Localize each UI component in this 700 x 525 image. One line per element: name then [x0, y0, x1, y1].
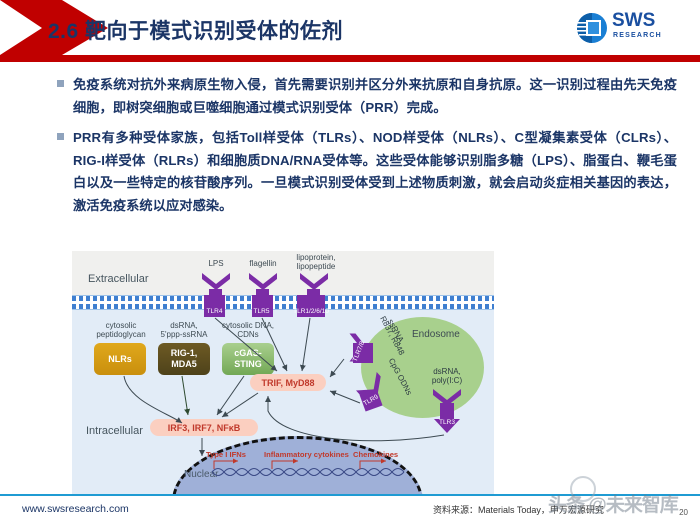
footer-source-note: 资料来源：Materials Today，申万宏源研究	[433, 503, 604, 516]
bullet-text-1: 免疫系统对抗外来病原生物入侵，首先需要识别并区分外来抗原和自身抗原。这一识别过程…	[73, 74, 677, 119]
adaptor-trif-myd88: TRIF, MyD88	[250, 374, 326, 391]
figure-prr-signaling-diagram: Extracellular Intracellular Endosome Nuc…	[72, 251, 494, 496]
ligand-label-lps: LPS	[196, 259, 236, 269]
receptor-label-tlr3: TLR3	[433, 419, 461, 426]
receptor-label-tlr12610: TLR1/2/6/10	[290, 308, 332, 315]
bullet-item-1: 免疫系统对抗外来病原生物入侵，首先需要识别并区分外来抗原和自身抗原。这一识别过程…	[57, 74, 677, 119]
sensor-ligand-label-dsrna-line2: 5'ppp-ssRNA	[150, 330, 218, 340]
gene-label-chemokines: Chemokines	[353, 450, 398, 459]
adaptor-irf3-irf7-nfkb: IRF3, IRF7, NFκB	[150, 419, 258, 436]
bullet-text-2: PRR有多种受体家族，包括Toll样受体（TLRs）、NOD样受体（NLRs）、…	[73, 127, 677, 217]
dna-strand-icon	[212, 465, 407, 479]
sensor-ligand-label-peptidoglycan-line2: peptidoglycan	[82, 330, 160, 340]
footer-divider	[0, 494, 700, 496]
sensor-box-rig1-mda5: RIG-1, MDA5	[158, 343, 210, 375]
sensor-box-rig1-line2: MDA5	[171, 359, 197, 370]
ligand-label-lipoprotein-line2: lipopeptide	[286, 262, 346, 272]
sensor-box-cgas-line1: cGAS-	[234, 348, 262, 359]
gene-label-type-i-ifns: Type I IFNs	[206, 450, 246, 459]
sensor-ligand-label-cytodna-line2: CDNs	[214, 330, 282, 340]
sensor-box-cgas-sting: cGAS- STING	[222, 343, 274, 375]
sws-logo-text: SWS	[612, 10, 655, 32]
sensor-box-cgas-line2: STING	[234, 359, 262, 370]
sws-logo: SWS RESEARCH	[576, 10, 684, 46]
footer-page-number: 20	[679, 508, 688, 517]
label-endosome: Endosome	[412, 329, 460, 340]
sensor-box-nlrs: NLRs	[94, 343, 146, 375]
bullet-item-2: PRR有多种受体家族，包括Toll样受体（TLRs）、NOD样受体（NLRs）、…	[57, 127, 677, 217]
sws-logo-subtext: RESEARCH	[613, 31, 662, 40]
gene-label-inflammatory-cytokines: Inflammatory cytokines	[264, 450, 349, 459]
ligand-label-flagellin: flagellin	[240, 259, 286, 269]
sensor-box-rig1-line1: RIG-1,	[171, 348, 198, 359]
slide-header: 2.6 靶向于模式识别受体的佐剂 SWS RESEARCH	[0, 0, 700, 62]
receptor-label-tlr5: TLR5	[251, 308, 272, 315]
plasma-membrane-bilayer	[72, 295, 494, 310]
bullet-square-icon	[57, 80, 64, 87]
ligand-label-dsrna-poly-line2: poly(I:C)	[424, 376, 470, 386]
sws-logo-mark-icon	[576, 12, 608, 44]
page-title: 2.6 靶向于模式识别受体的佐剂	[48, 16, 528, 52]
label-intracellular: Intracellular	[86, 425, 143, 437]
receptor-label-tlr4: TLR4	[204, 308, 225, 315]
label-extracellular: Extracellular	[88, 273, 149, 285]
header-red-bar	[0, 55, 700, 62]
footer-website-url[interactable]: www.swsresearch.com	[22, 503, 129, 515]
bullet-square-icon	[57, 133, 64, 140]
